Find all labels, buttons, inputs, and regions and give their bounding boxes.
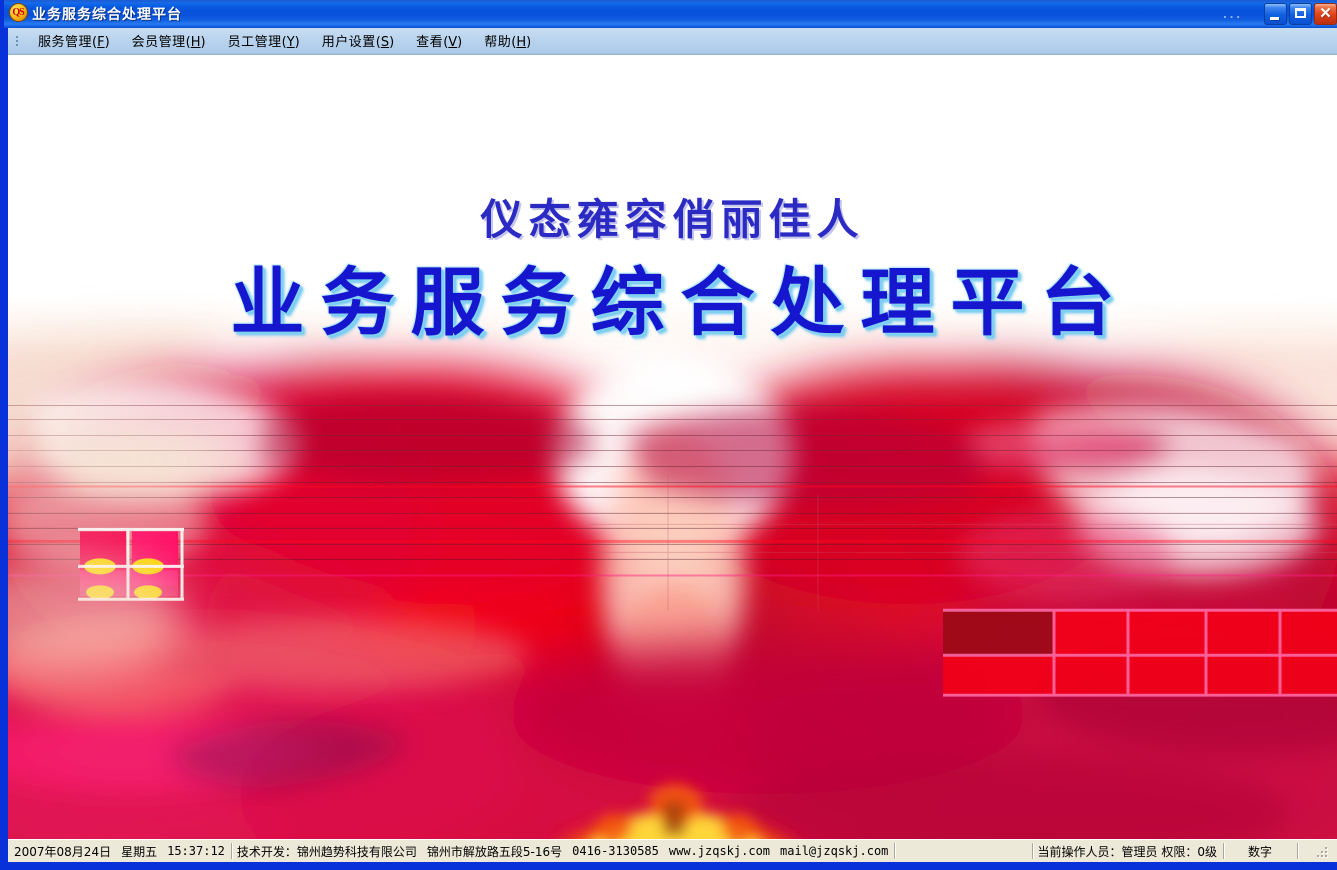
status-date: 2007年08月24日: [14, 843, 111, 860]
status-input-mode: 数字: [1248, 843, 1272, 860]
status-time: 15:37:12: [167, 844, 225, 858]
menu-accel: Y: [287, 35, 295, 50]
menu-item-user-settings[interactable]: 用户设置(S): [311, 28, 405, 53]
close-button[interactable]: ✕: [1314, 3, 1337, 25]
menu-label: 用户设置: [322, 35, 376, 50]
menu-item-view[interactable]: 查看(V): [405, 28, 473, 53]
maximize-icon: [1295, 8, 1306, 18]
window-controls: ✕: [1264, 3, 1337, 25]
menu-accel: V: [448, 35, 457, 50]
status-phone: 0416-3130585: [572, 844, 659, 858]
menu-label: 会员管理: [132, 35, 186, 50]
qs-app-icon: QS: [10, 4, 27, 21]
menu-label: 查看: [416, 35, 443, 50]
maximize-button[interactable]: [1289, 3, 1312, 25]
splash-background-artwork: [8, 55, 1337, 843]
status-operator-panel: 当前操作人员：管理员 权限：0级: [1032, 840, 1223, 862]
application-window: QS 业务服务综合处理平台 ... ✕ 服务管理(F) 会员管理(H) 员工管理…: [0, 0, 1337, 870]
menu-label: 服务管理: [38, 35, 92, 50]
status-weekday: 星期五: [121, 843, 157, 860]
status-address: 锦州市解放路五段5-16号: [427, 843, 562, 860]
status-website[interactable]: www.jzqskj.com: [669, 844, 770, 858]
status-resize-panel[interactable]: [1297, 840, 1337, 862]
status-company-panel: 技术开发：锦州趋势科技有限公司 锦州市解放路五段5-16号 0416-31305…: [231, 840, 895, 862]
status-datetime-panel: 2007年08月24日 星期五 15:37:12: [8, 840, 231, 862]
status-developer: 技术开发：锦州趋势科技有限公司: [237, 843, 417, 860]
status-operator: 当前操作人员：管理员 权限：0级: [1038, 843, 1217, 860]
status-input-mode-panel: 数字: [1223, 840, 1297, 862]
menu-item-help[interactable]: 帮助(H): [473, 28, 542, 53]
client-area: 仪态雍容俏丽佳人 业务服务综合处理平台: [8, 54, 1337, 843]
title-bar[interactable]: QS 业务服务综合处理平台 ... ✕: [4, 0, 1337, 28]
status-email[interactable]: mail@jzqskj.com: [780, 844, 888, 858]
menu-label: 员工管理: [228, 35, 282, 50]
menu-item-member-management[interactable]: 会员管理(H): [121, 28, 217, 53]
menu-bar: 服务管理(F) 会员管理(H) 员工管理(Y) 用户设置(S) 查看(V) 帮助…: [8, 28, 1337, 54]
minimize-icon: [1270, 17, 1279, 20]
title-dots: ...: [1223, 9, 1243, 19]
menu-item-service-management[interactable]: 服务管理(F): [27, 28, 121, 53]
status-bar: 2007年08月24日 星期五 15:37:12 技术开发：锦州趋势科技有限公司…: [8, 839, 1337, 862]
menu-accel: H: [191, 35, 201, 50]
close-icon: ✕: [1315, 4, 1336, 24]
minimize-button[interactable]: [1264, 3, 1287, 25]
menu-label: 帮助: [484, 35, 511, 50]
menu-accel: S: [381, 35, 389, 50]
resize-grip-icon[interactable]: [1316, 846, 1330, 860]
menu-accel: F: [97, 35, 104, 50]
menu-item-staff-management[interactable]: 员工管理(Y): [217, 28, 311, 53]
menu-grip-handle[interactable]: [13, 33, 23, 49]
window-title: 业务服务综合处理平台: [32, 4, 182, 24]
status-spacer-panel: [894, 840, 1031, 862]
menu-accel: H: [516, 35, 526, 50]
